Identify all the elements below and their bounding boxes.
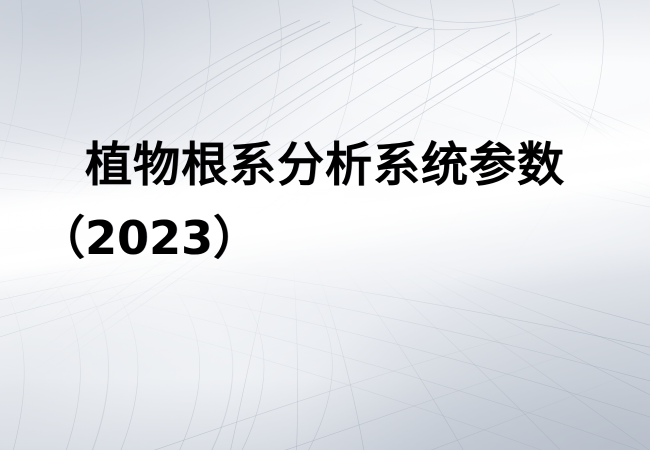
slide-title-block: 植物根系分析系统参数 （2023） <box>0 136 650 264</box>
slide-title-year: （2023） <box>0 212 650 264</box>
slide-title-main: 植物根系分析系统参数 <box>0 136 650 196</box>
slide-canvas: 植物根系分析系统参数 （2023） <box>0 0 650 450</box>
